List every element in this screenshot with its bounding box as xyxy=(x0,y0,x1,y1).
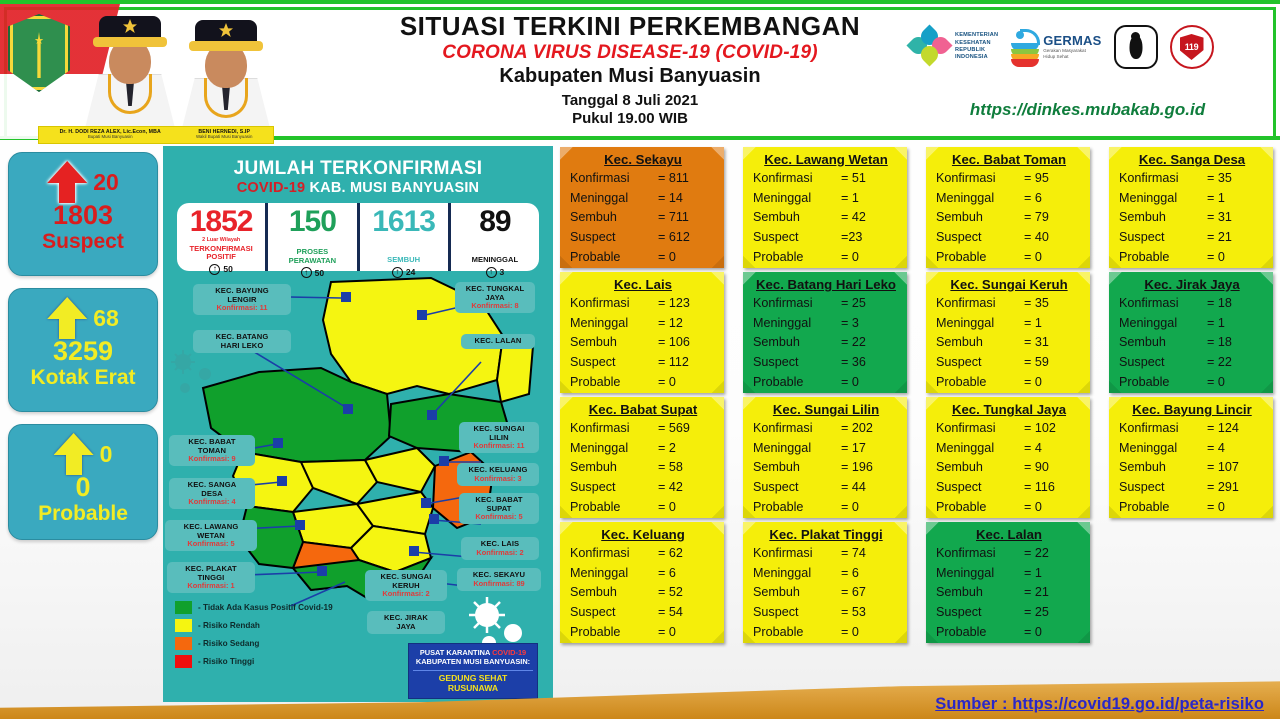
surveilans-logo-icon xyxy=(1114,25,1158,69)
summary-number: 150 xyxy=(268,207,356,237)
district-card-babat-supat[interactable]: Kec. Babat Supat Konfirmasi= 569 Meningg… xyxy=(560,397,724,518)
stat-value: = 569 xyxy=(658,419,716,439)
district-stat-probable: Probable= 0 xyxy=(1119,498,1265,518)
district-card-babat-toman[interactable]: Kec. Babat Toman Konfirmasi= 95 Meningga… xyxy=(926,147,1090,268)
arrow-up-icon xyxy=(47,161,87,203)
district-card-bayung-lincir[interactable]: Kec. Bayung Lincir Konfirmasi= 124 Menin… xyxy=(1109,397,1273,518)
legend-text: - Risiko Tinggi xyxy=(198,657,254,666)
stat-key: Probable xyxy=(753,623,841,643)
district-stat-suspect: Suspect= 54 xyxy=(570,603,716,623)
stat-value: = 22 xyxy=(1024,544,1082,564)
stat-key: Konfirmasi xyxy=(753,169,841,189)
district-cards-grid: Kec. Sekayu Konfirmasi= 811 Meninggal= 1… xyxy=(560,147,1275,647)
district-stat-probable: Probable= 0 xyxy=(753,623,899,643)
stat-value: = 36 xyxy=(841,353,899,373)
district-card-title: Kec. Sungai Lilin xyxy=(753,402,899,417)
district-stat-konfirmasi: Konfirmasi= 202 xyxy=(753,419,899,439)
stat-key: Konfirmasi xyxy=(570,294,658,314)
district-card-title: Kec. Babat Toman xyxy=(936,152,1082,167)
quarantine-location: GEDUNG SEHAT RUSUNAWA xyxy=(413,670,533,693)
map-panel-subtitle-covid: COVID-19 xyxy=(237,180,305,196)
map-label-konfirmasi: Konfirmasi: 2 xyxy=(466,549,534,557)
kemenkes-line-4: INDONESIA xyxy=(955,54,998,61)
district-card-plakat-tinggi[interactable]: Kec. Plakat Tinggi Konfirmasi= 74 Mening… xyxy=(743,522,907,643)
stat-key: Konfirmasi xyxy=(570,169,658,189)
district-card-title: Kec. Lawang Wetan xyxy=(753,152,899,167)
stat-delta: 68 xyxy=(93,305,119,332)
stat-key: Probable xyxy=(570,248,658,268)
map-label-konfirmasi: Konfirmasi: 9 xyxy=(174,455,250,463)
official-bupati xyxy=(82,12,178,130)
stat-key: Meninggal xyxy=(570,189,658,209)
stat-key: Meninggal xyxy=(753,189,841,209)
stat-label: Suspect xyxy=(42,230,124,253)
stat-value: = 0 xyxy=(1024,623,1082,643)
germas-tagline-2: Hidup Sehat xyxy=(1043,54,1101,60)
stat-value: = 6 xyxy=(658,564,716,584)
source-link[interactable]: Sumber : https://covid19.go.id/peta-risi… xyxy=(935,695,1264,714)
stat-key: Sembuh xyxy=(570,333,658,353)
stat-value: = 0 xyxy=(1024,498,1082,518)
stat-value: = 0 xyxy=(1207,498,1265,518)
district-stat-probable: Probable= 0 xyxy=(936,623,1082,643)
district-stat-sembuh: Sembuh= 196 xyxy=(753,458,899,478)
district-stat-sembuh: Sembuh= 90 xyxy=(936,458,1082,478)
map-label-konfirmasi: Konfirmasi: 8 xyxy=(460,302,530,310)
stat-key: Sembuh xyxy=(936,583,1024,603)
summary-cell-meninggal: 89 MENINGGAL ↑ 3 xyxy=(448,203,539,271)
district-stat-probable: Probable= 0 xyxy=(936,498,1082,518)
summary-box: 1852 2 Luar Wilayah TERKONFIRMASI POSITI… xyxy=(177,203,539,271)
legend-swatch-green xyxy=(175,601,192,614)
stat-value: = 35 xyxy=(1207,169,1265,189)
district-stat-meninggal: Meninggal= 4 xyxy=(1119,439,1265,459)
stat-top-row: 0 xyxy=(54,433,113,475)
stat-key: Meninggal xyxy=(936,439,1024,459)
district-stat-probable: Probable= 0 xyxy=(570,373,716,393)
district-card-lalan[interactable]: Kec. Lalan Konfirmasi= 22 Meninggal= 1 S… xyxy=(926,522,1090,643)
stat-key: Meninggal xyxy=(753,314,841,334)
germas-text: GERMAS Gerakan Masyarakat Hidup Sehat xyxy=(1043,34,1101,59)
stat-key: Konfirmasi xyxy=(936,544,1024,564)
stat-value: = 0 xyxy=(658,498,716,518)
district-stat-suspect: Suspect= 21 xyxy=(1119,228,1265,248)
district-card-title: Kec. Batang Hari Leko xyxy=(753,277,899,292)
page-title: SITUASI TERKINI PERKEMBANGAN xyxy=(330,12,930,41)
district-stat-konfirmasi: Konfirmasi= 25 xyxy=(753,294,899,314)
district-stat-sembuh: Sembuh= 21 xyxy=(936,583,1082,603)
website-url[interactable]: https://dinkes.mubakab.go.id xyxy=(900,100,1275,120)
district-stat-sembuh: Sembuh= 58 xyxy=(570,458,716,478)
stat-key: Konfirmasi xyxy=(936,294,1024,314)
stat-key: Suspect xyxy=(936,603,1024,623)
district-card-batang-hari-leko[interactable]: Kec. Batang Hari Leko Konfirmasi= 25 Men… xyxy=(743,272,907,393)
stat-total: 0 xyxy=(75,473,90,501)
district-card-row: Kec. Keluang Konfirmasi= 62 Meninggal= 6… xyxy=(560,522,1275,643)
stat-value: = 106 xyxy=(658,333,716,353)
stat-value: = 0 xyxy=(841,498,899,518)
stat-value: = 52 xyxy=(658,583,716,603)
stat-value: = 22 xyxy=(841,333,899,353)
stat-top-row: 20 xyxy=(47,161,119,203)
map-label-name-2: JAYA xyxy=(372,623,440,632)
district-stat-suspect: Suspect= 53 xyxy=(753,603,899,623)
stat-value: = 62 xyxy=(658,544,716,564)
stat-key: Suspect xyxy=(1119,478,1207,498)
stat-label: Probable xyxy=(38,502,128,525)
legend-text: - Tidak Ada Kasus Positif Covid-19 xyxy=(198,603,333,612)
map-legend: - Tidak Ada Kasus Positif Covid-19 - Ris… xyxy=(175,601,333,673)
stat-key: Suspect xyxy=(753,228,841,248)
map-label-lawang-wetan: KEC. LAWANG WETAN Konfirmasi: 5 xyxy=(165,520,257,551)
district-card-sekayu[interactable]: Kec. Sekayu Konfirmasi= 811 Meninggal= 1… xyxy=(560,147,724,268)
stat-value: = 102 xyxy=(1024,419,1082,439)
stat-value: = 1 xyxy=(1207,189,1265,209)
stat-key: Meninggal xyxy=(936,564,1024,584)
district-stat-meninggal: Meninggal= 6 xyxy=(570,564,716,584)
district-stat-meninggal: Meninggal= 2 xyxy=(570,439,716,459)
stat-value: = 107 xyxy=(1207,458,1265,478)
map-panel-title: JUMLAH TERKONFIRMASI xyxy=(163,158,553,180)
stat-key: Suspect xyxy=(1119,353,1207,373)
arrow-up-icon xyxy=(47,297,87,339)
stat-value: = 12 xyxy=(658,314,716,334)
stat-key: Meninggal xyxy=(936,314,1024,334)
stat-value: = 116 xyxy=(1024,478,1082,498)
legend-text: - Risiko Rendah xyxy=(198,621,260,630)
stat-value: = 95 xyxy=(1024,169,1082,189)
stat-value: = 14 xyxy=(658,189,716,209)
stat-value: = 21 xyxy=(1024,583,1082,603)
stat-card-suspect: 20 1803 Suspect xyxy=(8,152,158,276)
stat-value: = 202 xyxy=(841,419,899,439)
stat-key: Probable xyxy=(1119,373,1207,393)
summary-label: MENINGGAL xyxy=(451,256,539,265)
stat-key: Suspect xyxy=(570,353,658,373)
district-stat-suspect: Suspect= 291 xyxy=(1119,478,1265,498)
stat-value: = 90 xyxy=(1024,458,1082,478)
map-label-konfirmasi: Konfirmasi: 1 xyxy=(172,582,250,590)
district-stat-meninggal: Meninggal= 6 xyxy=(753,564,899,584)
map-label-plakat-tinggi: KEC. PLAKAT TINGGI Konfirmasi: 1 xyxy=(167,562,255,593)
legend-item: - Risiko Rendah xyxy=(175,619,333,632)
stat-value: = 0 xyxy=(841,623,899,643)
map-label-name-1: KEC. LALAN xyxy=(466,337,530,346)
report-date: Tanggal 8 Juli 2021 xyxy=(330,92,930,110)
district-card-keluang[interactable]: Kec. Keluang Konfirmasi= 62 Meninggal= 6… xyxy=(560,522,724,643)
quarantine-line-1: PUSAT KARANTINA COVID-19 xyxy=(413,648,533,657)
district-card-jirak-jaya[interactable]: Kec. Jirak Jaya Konfirmasi= 18 Meninggal… xyxy=(1109,272,1273,393)
arrow-up-icon xyxy=(54,433,94,475)
district-card-title: Kec. Sekayu xyxy=(570,152,716,167)
district-stat-konfirmasi: Konfirmasi= 62 xyxy=(570,544,716,564)
district-stat-konfirmasi: Konfirmasi= 811 xyxy=(570,169,716,189)
stat-value: = 1 xyxy=(1024,564,1082,584)
stat-value: = 6 xyxy=(1024,189,1082,209)
district-stat-sembuh: Sembuh= 31 xyxy=(1119,208,1265,228)
district-card-sanga-desa[interactable]: Kec. Sanga Desa Konfirmasi= 35 Meninggal… xyxy=(1109,147,1273,268)
stat-value: = 42 xyxy=(841,208,899,228)
official-role: Wakil Bupati Musi Banyuasin xyxy=(196,135,252,140)
map-panel-subtitle: COVID-19 KAB. MUSI BANYUASIN xyxy=(163,180,553,196)
stat-value: = 17 xyxy=(841,439,899,459)
stat-value: = 74 xyxy=(841,544,899,564)
stat-delta: 0 xyxy=(100,441,113,468)
stat-value: = 2 xyxy=(658,439,716,459)
district-card-row: Kec. Babat Supat Konfirmasi= 569 Meningg… xyxy=(560,397,1275,518)
cap-icon xyxy=(195,20,257,46)
stat-value: = 4 xyxy=(1024,439,1082,459)
stat-value: = 79 xyxy=(1024,208,1082,228)
stat-key: Meninggal xyxy=(936,189,1024,209)
stat-key: Suspect xyxy=(570,478,658,498)
map-label-babat-supat: KEC. BABAT SUPAT Konfirmasi: 5 xyxy=(459,493,539,524)
district-card-title: Kec. Sanga Desa xyxy=(1119,152,1265,167)
stat-key: Sembuh xyxy=(1119,208,1207,228)
summary-label-line2: POSITIF xyxy=(177,253,265,262)
district-stat-sembuh: Sembuh= 106 xyxy=(570,333,716,353)
district-stat-sembuh: Sembuh= 31 xyxy=(936,333,1082,353)
district-stat-probable: Probable= 0 xyxy=(1119,373,1265,393)
stat-delta: 20 xyxy=(93,169,119,196)
stat-value: = 612 xyxy=(658,228,716,248)
stat-key: Probable xyxy=(570,373,658,393)
map-label-bayung-lencir: KEC. BAYUNG LENGIR Konfirmasi: 11 xyxy=(193,284,291,315)
legend-item: - Risiko Tinggi xyxy=(175,655,333,668)
crest-star-icon: ★ xyxy=(34,36,44,47)
kemenkes-line-1: KEMENTERIAN xyxy=(955,32,998,39)
summary-number: 1613 xyxy=(360,207,448,237)
district-stat-meninggal: Meninggal= 17 xyxy=(753,439,899,459)
stat-value: = 0 xyxy=(1024,373,1082,393)
district-stat-meninggal: Meninggal= 12 xyxy=(570,314,716,334)
district-stat-suspect: Suspect= 36 xyxy=(753,353,899,373)
district-stat-meninggal: Meninggal= 6 xyxy=(936,189,1082,209)
stat-card-probable: 0 0 Probable xyxy=(8,424,158,540)
district-card-title: Kec. Lalan xyxy=(936,527,1082,542)
map-label-sekayu: KEC. SEKAYU Konfirmasi: 89 xyxy=(457,568,541,591)
map-label-lais: KEC. LAIS Konfirmasi: 2 xyxy=(461,537,539,560)
official-caption: BENI HERNEDI, S.IP Wakil Bupati Musi Ban… xyxy=(196,130,252,140)
stat-total: 1803 xyxy=(53,201,113,229)
stat-key: Sembuh xyxy=(1119,333,1207,353)
stat-key: Konfirmasi xyxy=(936,419,1024,439)
district-stat-sembuh: Sembuh= 52 xyxy=(570,583,716,603)
district-stat-probable: Probable= 0 xyxy=(570,498,716,518)
stat-value: = 40 xyxy=(1024,228,1082,248)
map-label-sanga-desa: KEC. SANGA DESA Konfirmasi: 4 xyxy=(169,478,255,509)
stat-key: Suspect xyxy=(936,228,1024,248)
stat-key: Suspect xyxy=(753,603,841,623)
map-label-konfirmasi: Konfirmasi: 5 xyxy=(170,540,252,548)
emergency-119-logo-icon: 119 xyxy=(1170,25,1214,69)
district-stat-sembuh: Sembuh= 107 xyxy=(1119,458,1265,478)
stat-key: Sembuh xyxy=(570,208,658,228)
header-title-block: SITUASI TERKINI PERKEMBANGAN CORONA VIRU… xyxy=(330,12,930,128)
stat-key: Probable xyxy=(936,498,1024,518)
district-stat-konfirmasi: Konfirmasi= 123 xyxy=(570,294,716,314)
kemenkes-line-2: KESEHATAN xyxy=(955,40,998,47)
district-stat-konfirmasi: Konfirmasi= 102 xyxy=(936,419,1082,439)
stat-key: Konfirmasi xyxy=(753,544,841,564)
stat-key: Sembuh xyxy=(753,333,841,353)
officials-photo xyxy=(74,10,294,130)
stat-value: = 6 xyxy=(841,564,899,584)
map-label-sungai-keruh: KEC. SUNGAI KERUH Konfirmasi: 2 xyxy=(365,570,447,601)
stat-value: = 25 xyxy=(841,294,899,314)
stat-key: Konfirmasi xyxy=(1119,419,1207,439)
kemenkes-logo-icon: KEMENTERIAN KESEHATAN REPUBLIK INDONESIA xyxy=(910,28,998,66)
germas-name: GERMAS xyxy=(1043,34,1101,47)
stat-value: = 18 xyxy=(1207,333,1265,353)
district-stat-sembuh: Sembuh= 22 xyxy=(753,333,899,353)
report-time: Pukul 19.00 WIB xyxy=(330,110,930,128)
summary-label: SEMBUH xyxy=(360,256,448,265)
district-card-sungai-lilin[interactable]: Kec. Sungai Lilin Konfirmasi= 202 Mening… xyxy=(743,397,907,518)
stat-value: = 196 xyxy=(841,458,899,478)
district-stat-meninggal: Meninggal= 14 xyxy=(570,189,716,209)
stat-key: Probable xyxy=(753,373,841,393)
legend-swatch-red xyxy=(175,655,192,668)
map-label-konfirmasi: Konfirmasi: 11 xyxy=(198,304,286,312)
summary-number: 89 xyxy=(451,207,539,237)
stat-value: = 0 xyxy=(841,373,899,393)
district-stat-konfirmasi: Konfirmasi= 95 xyxy=(936,169,1082,189)
district-stat-suspect: Suspect= 42 xyxy=(570,478,716,498)
surveilans-glyph-icon xyxy=(1129,35,1142,59)
stat-key: Konfirmasi xyxy=(936,169,1024,189)
district-stat-suspect: Suspect= 40 xyxy=(936,228,1082,248)
stat-value: = 22 xyxy=(1207,353,1265,373)
district-stat-suspect: Suspect= 116 xyxy=(936,478,1082,498)
stat-key: Probable xyxy=(936,623,1024,643)
stat-key: Suspect xyxy=(570,603,658,623)
stat-value: = 31 xyxy=(1207,208,1265,228)
stat-key: Konfirmasi xyxy=(1119,169,1207,189)
district-card-lais[interactable]: Kec. Lais Konfirmasi= 123 Meninggal= 12 … xyxy=(560,272,724,393)
stat-key: Sembuh xyxy=(936,208,1024,228)
stat-key: Sembuh xyxy=(1119,458,1207,478)
district-stat-probable: Probable= 0 xyxy=(936,248,1082,268)
stat-label: Kotak Erat xyxy=(30,366,135,389)
stat-key: Sembuh xyxy=(936,333,1024,353)
stat-key: Sembuh xyxy=(936,458,1024,478)
stat-key: Probable xyxy=(1119,248,1207,268)
district-stat-probable: Probable= 0 xyxy=(936,373,1082,393)
summary-cell-sembuh: 1613 SEMBUH ↑ 24 xyxy=(357,203,448,271)
stat-key: Konfirmasi xyxy=(1119,294,1207,314)
stat-value: = 811 xyxy=(658,169,716,189)
district-stat-meninggal: Meninggal= 1 xyxy=(1119,189,1265,209)
emergency-number: 119 xyxy=(1185,42,1199,52)
stat-value: = 1 xyxy=(841,189,899,209)
summary-label: PROSES PERAWATAN xyxy=(268,248,356,265)
official-wakil-bupati xyxy=(178,16,274,134)
district-card-title: Kec. Babat Supat xyxy=(570,402,716,417)
stat-key: Sembuh xyxy=(570,458,658,478)
map-label-konfirmasi: Konfirmasi: 11 xyxy=(464,442,534,450)
district-stat-sembuh: Sembuh= 79 xyxy=(936,208,1082,228)
stat-value: = 21 xyxy=(1207,228,1265,248)
stat-value: =23 xyxy=(841,228,899,248)
district-stat-konfirmasi: Konfirmasi= 35 xyxy=(936,294,1082,314)
district-stat-konfirmasi: Konfirmasi= 35 xyxy=(1119,169,1265,189)
district-stat-meninggal: Meninggal= 1 xyxy=(936,564,1082,584)
summary-label: TERKONFIRMASI POSITIF xyxy=(177,245,265,262)
stat-value: = 124 xyxy=(1207,419,1265,439)
stat-value: = 0 xyxy=(658,373,716,393)
district-stat-meninggal: Meninggal= 1 xyxy=(936,314,1082,334)
stat-key: Suspect xyxy=(1119,228,1207,248)
quarantine-center-banner: PUSAT KARANTINA COVID-19 KABUPATEN MUSI … xyxy=(408,643,538,699)
stat-value: = 3 xyxy=(841,314,899,334)
stat-value: = 1 xyxy=(1024,314,1082,334)
district-card-sungai-keruh[interactable]: Kec. Sungai Keruh Konfirmasi= 35 Meningg… xyxy=(926,272,1090,393)
district-stat-sembuh: Sembuh= 42 xyxy=(753,208,899,228)
stat-total: 3259 xyxy=(53,337,113,365)
district-card-lawang-wetan[interactable]: Kec. Lawang Wetan Konfirmasi= 51 Meningg… xyxy=(743,147,907,268)
district-stat-suspect: Suspect= 22 xyxy=(1119,353,1265,373)
kemenkes-line-3: REPUBLIK xyxy=(955,47,998,54)
stat-key: Suspect xyxy=(936,478,1024,498)
header: ★ Dr. H. DODI REZA ALEX, Lic.Econ, MBA xyxy=(0,0,1280,140)
stat-value: = 1 xyxy=(1207,314,1265,334)
district-stat-konfirmasi: Konfirmasi= 18 xyxy=(1119,294,1265,314)
map-label-konfirmasi: Konfirmasi: 5 xyxy=(464,513,534,521)
stat-key: Probable xyxy=(753,498,841,518)
district-stat-konfirmasi: Konfirmasi= 124 xyxy=(1119,419,1265,439)
germas-arc-red xyxy=(1011,59,1039,67)
district-card-title: Kec. Lais xyxy=(570,277,716,292)
stat-key: Probable xyxy=(570,498,658,518)
cap-emblem-icon xyxy=(123,19,137,33)
stat-value: = 59 xyxy=(1024,353,1082,373)
stat-value: = 44 xyxy=(841,478,899,498)
district-stat-konfirmasi: Konfirmasi= 51 xyxy=(753,169,899,189)
germas-mark-icon xyxy=(1010,29,1040,65)
infographic-page: ★ Dr. H. DODI REZA ALEX, Lic.Econ, MBA xyxy=(0,0,1280,719)
stat-value: = 112 xyxy=(658,353,716,373)
stat-value: = 0 xyxy=(658,248,716,268)
district-stat-suspect: Suspect= 25 xyxy=(936,603,1082,623)
stat-key: Meninggal xyxy=(570,314,658,334)
district-stat-meninggal: Meninggal= 4 xyxy=(936,439,1082,459)
map-label-lalan: KEC. LALAN xyxy=(461,334,535,349)
district-stat-meninggal: Meninggal= 1 xyxy=(753,189,899,209)
map-label-konfirmasi: Konfirmasi: 2 xyxy=(370,590,442,598)
legend-swatch-yellow xyxy=(175,619,192,632)
summary-increment-value: 50 xyxy=(223,264,232,274)
map-label-konfirmasi: Konfirmasi: 4 xyxy=(174,498,250,506)
map-label-tungkal-jaya: KEC. TUNGKAL JAYA Konfirmasi: 8 xyxy=(455,282,535,313)
stat-key: Konfirmasi xyxy=(570,544,658,564)
stat-value: = 4 xyxy=(1207,439,1265,459)
summary-cell-terkonfirmasi: 1852 2 Luar Wilayah TERKONFIRMASI POSITI… xyxy=(177,203,265,271)
stat-value: = 51 xyxy=(841,169,899,189)
district-stat-suspect: Suspect= 59 xyxy=(936,353,1082,373)
district-card-title: Kec. Plakat Tinggi xyxy=(753,527,899,542)
stat-value: = 18 xyxy=(1207,294,1265,314)
stat-key: Konfirmasi xyxy=(570,419,658,439)
stat-key: Meninggal xyxy=(1119,189,1207,209)
stat-value: = 0 xyxy=(1024,248,1082,268)
district-card-tungkal-jaya[interactable]: Kec. Tungkal Jaya Konfirmasi= 102 Mening… xyxy=(926,397,1090,518)
district-stat-probable: Probable= 0 xyxy=(570,623,716,643)
stat-key: Meninggal xyxy=(753,439,841,459)
stat-key: Meninggal xyxy=(1119,314,1207,334)
stat-key: Probable xyxy=(1119,498,1207,518)
stat-value: = 291 xyxy=(1207,478,1265,498)
